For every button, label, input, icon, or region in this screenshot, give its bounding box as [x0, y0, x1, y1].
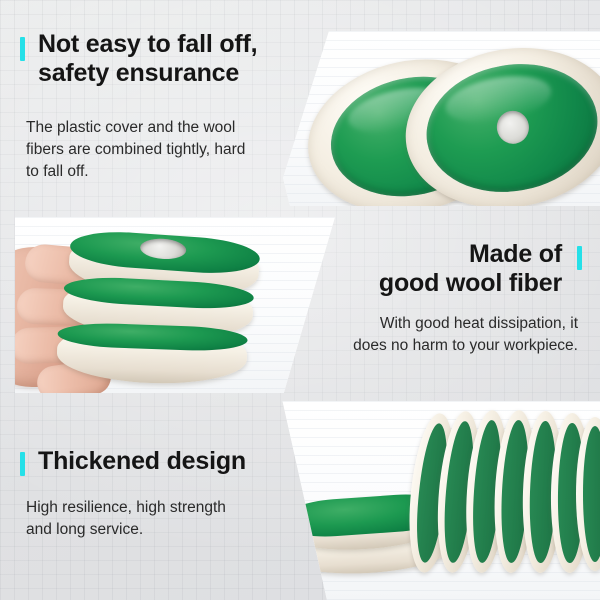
accent-bar-panel-3	[20, 452, 25, 476]
panel-3-headline: Thickened design	[38, 447, 246, 476]
center-arbor-hole-wrap	[140, 237, 187, 260]
panel-2-body-text: With good heat dissipation, it does no h…	[353, 313, 578, 357]
green-plastic-core	[583, 426, 600, 562]
panel-3-body-text: High resilience, high strength and long …	[26, 497, 226, 541]
accent-bar-panel-1	[20, 37, 25, 61]
panel-1-headline: Not easy to fall off, safety ensurance	[38, 30, 257, 89]
panel-1-body-text: The plastic cover and the wool fibers ar…	[26, 117, 245, 183]
center-arbor-hole	[140, 237, 187, 260]
hand-holding-stacked-discs-photo	[15, 217, 335, 393]
accent-bar-panel-2	[577, 246, 582, 270]
panel-2-headline: Made of good wool fiber	[379, 240, 562, 299]
infographic-stage: Not easy to fall off, safety ensurance T…	[0, 0, 600, 600]
row-of-discs-photo	[271, 401, 600, 600]
two-polishing-discs-photo	[283, 31, 600, 206]
